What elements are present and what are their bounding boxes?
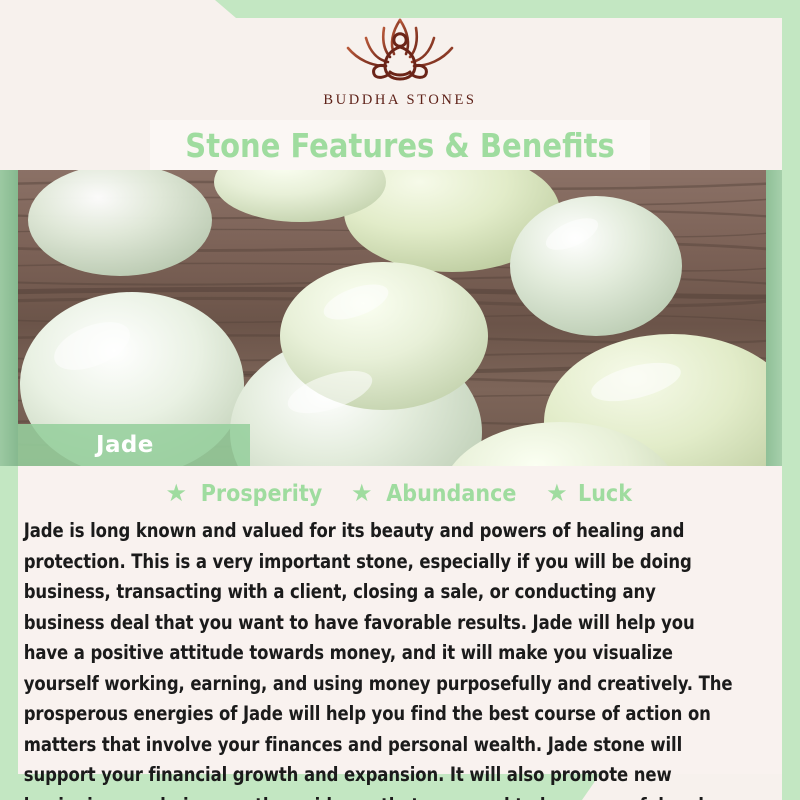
infographic-card: BUDDHA STONES Stone Features & Benefits …: [0, 0, 800, 800]
lotus-meditation-icon: [332, 14, 468, 88]
brand-header: BUDDHA STONES: [0, 0, 800, 122]
benefit-item: ★ Prosperity: [165, 481, 328, 507]
benefit-label: Prosperity: [201, 481, 322, 507]
brand-name: BUDDHA STONES: [323, 92, 476, 109]
stone-name-banner: Jade: [18, 424, 250, 466]
benefit-item: ★ Luck: [546, 481, 634, 507]
benefit-label: Abundance: [387, 481, 517, 507]
photo-illustration: [0, 170, 800, 466]
star-icon: ★: [351, 482, 373, 506]
star-icon: ★: [546, 482, 568, 506]
benefits-row: ★ Prosperity ★ Abundance ★ Luck: [18, 466, 782, 514]
benefit-item: ★ Abundance: [351, 481, 524, 507]
stone-name: Jade: [96, 432, 154, 458]
star-icon: ★: [165, 482, 187, 506]
page-title: Stone Features & Benefits: [185, 126, 614, 165]
stone-description: Jade is long known and valued for its be…: [18, 516, 748, 800]
page-title-banner: Stone Features & Benefits: [150, 120, 650, 170]
benefit-label: Luck: [578, 481, 632, 507]
jade-stones-photo: [0, 170, 800, 466]
photo-accent-strip-right: [766, 170, 782, 466]
content-panel: ★ Prosperity ★ Abundance ★ Luck Jade is …: [18, 466, 782, 774]
photo-accent-strip-left: [0, 170, 18, 466]
